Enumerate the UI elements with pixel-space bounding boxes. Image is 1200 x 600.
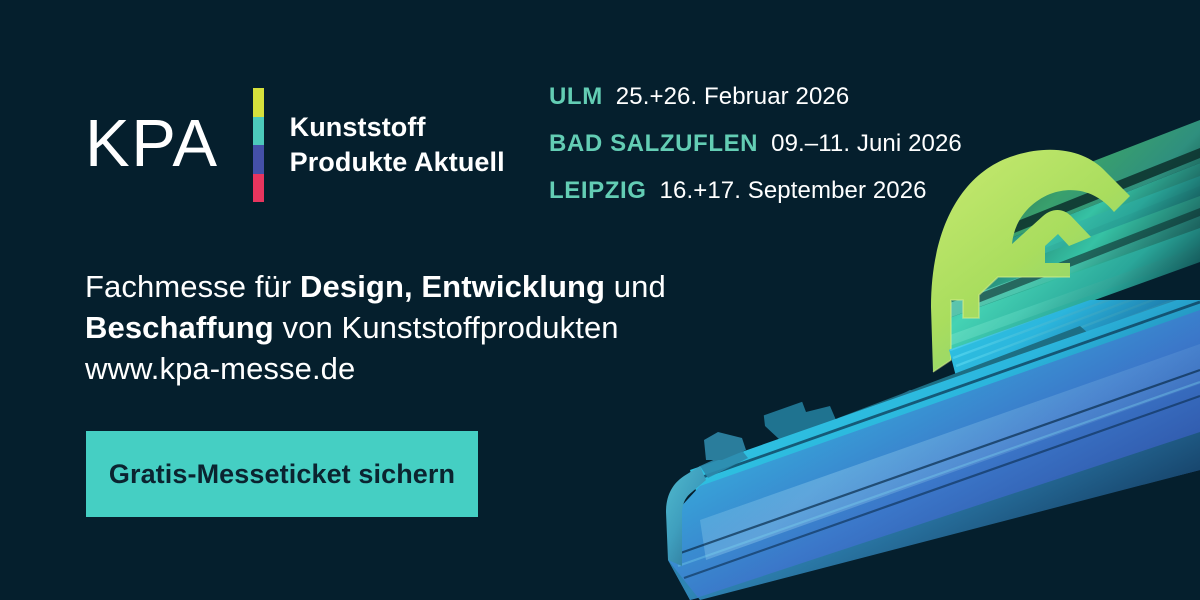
- event-date-bad-salzuflen: 09.–11. Juni 2026: [771, 129, 962, 159]
- free-ticket-button-label: Gratis-Messeticket sichern: [109, 459, 455, 490]
- logo-wordmark: KPA: [85, 110, 219, 181]
- tagline-line1-part2: und: [605, 269, 666, 304]
- green-profile-graphic: [931, 120, 1200, 372]
- free-ticket-button[interactable]: Gratis-Messeticket sichern: [86, 431, 478, 517]
- tagline-line1-bold: Design, Entwicklung: [300, 269, 605, 304]
- event-city-ulm: ULM: [549, 82, 603, 112]
- logo-subtitle: Kunststoff Produkte Aktuell: [290, 110, 505, 180]
- colorbar-segment-indigo: [253, 145, 264, 174]
- tagline-line2-bold: Beschaffung: [85, 310, 274, 345]
- colorbar-segment-yellow-green: [253, 88, 264, 117]
- event-row-bad-salzuflen: BAD SALZUFLEN 09.–11. Juni 2026: [549, 129, 962, 159]
- colorbar-segment-teal: [253, 117, 264, 146]
- logo-subtitle-line1: Kunststoff: [290, 112, 426, 142]
- colorbar-segment-crimson: [253, 174, 264, 203]
- event-date-leipzig: 16.+17. September 2026: [660, 176, 927, 206]
- kpa-logo[interactable]: KPA Kunststoff Produkte Aktuell: [85, 88, 505, 202]
- event-row-ulm: ULM 25.+26. Februar 2026: [549, 82, 962, 112]
- event-city-bad-salzuflen: BAD SALZUFLEN: [549, 129, 758, 159]
- logo-subtitle-line2: Produkte Aktuell: [290, 147, 505, 177]
- kpa-trade-fair-banner: KPA Kunststoff Produkte Aktuell ULM 25.+…: [0, 0, 1200, 600]
- tagline-line-2: Beschaffung von Kunststoffprodukten: [85, 307, 666, 348]
- tagline-line2-part1: von Kunststoffprodukten: [274, 310, 619, 345]
- event-city-leipzig: LEIPZIG: [549, 176, 647, 206]
- event-row-leipzig: LEIPZIG 16.+17. September 2026: [549, 176, 962, 206]
- blue-profile-graphic: [666, 238, 1200, 600]
- event-date-list: ULM 25.+26. Februar 2026 BAD SALZUFLEN 0…: [549, 82, 962, 206]
- tagline-line1-part1: Fachmesse für: [85, 269, 300, 304]
- website-url[interactable]: www.kpa-messe.de: [85, 348, 666, 389]
- tagline-line-1: Fachmesse für Design, Entwicklung und: [85, 266, 666, 307]
- tagline: Fachmesse für Design, Entwicklung und Be…: [85, 266, 666, 390]
- logo-colorbar-icon: [253, 88, 264, 202]
- event-date-ulm: 25.+26. Februar 2026: [616, 82, 850, 112]
